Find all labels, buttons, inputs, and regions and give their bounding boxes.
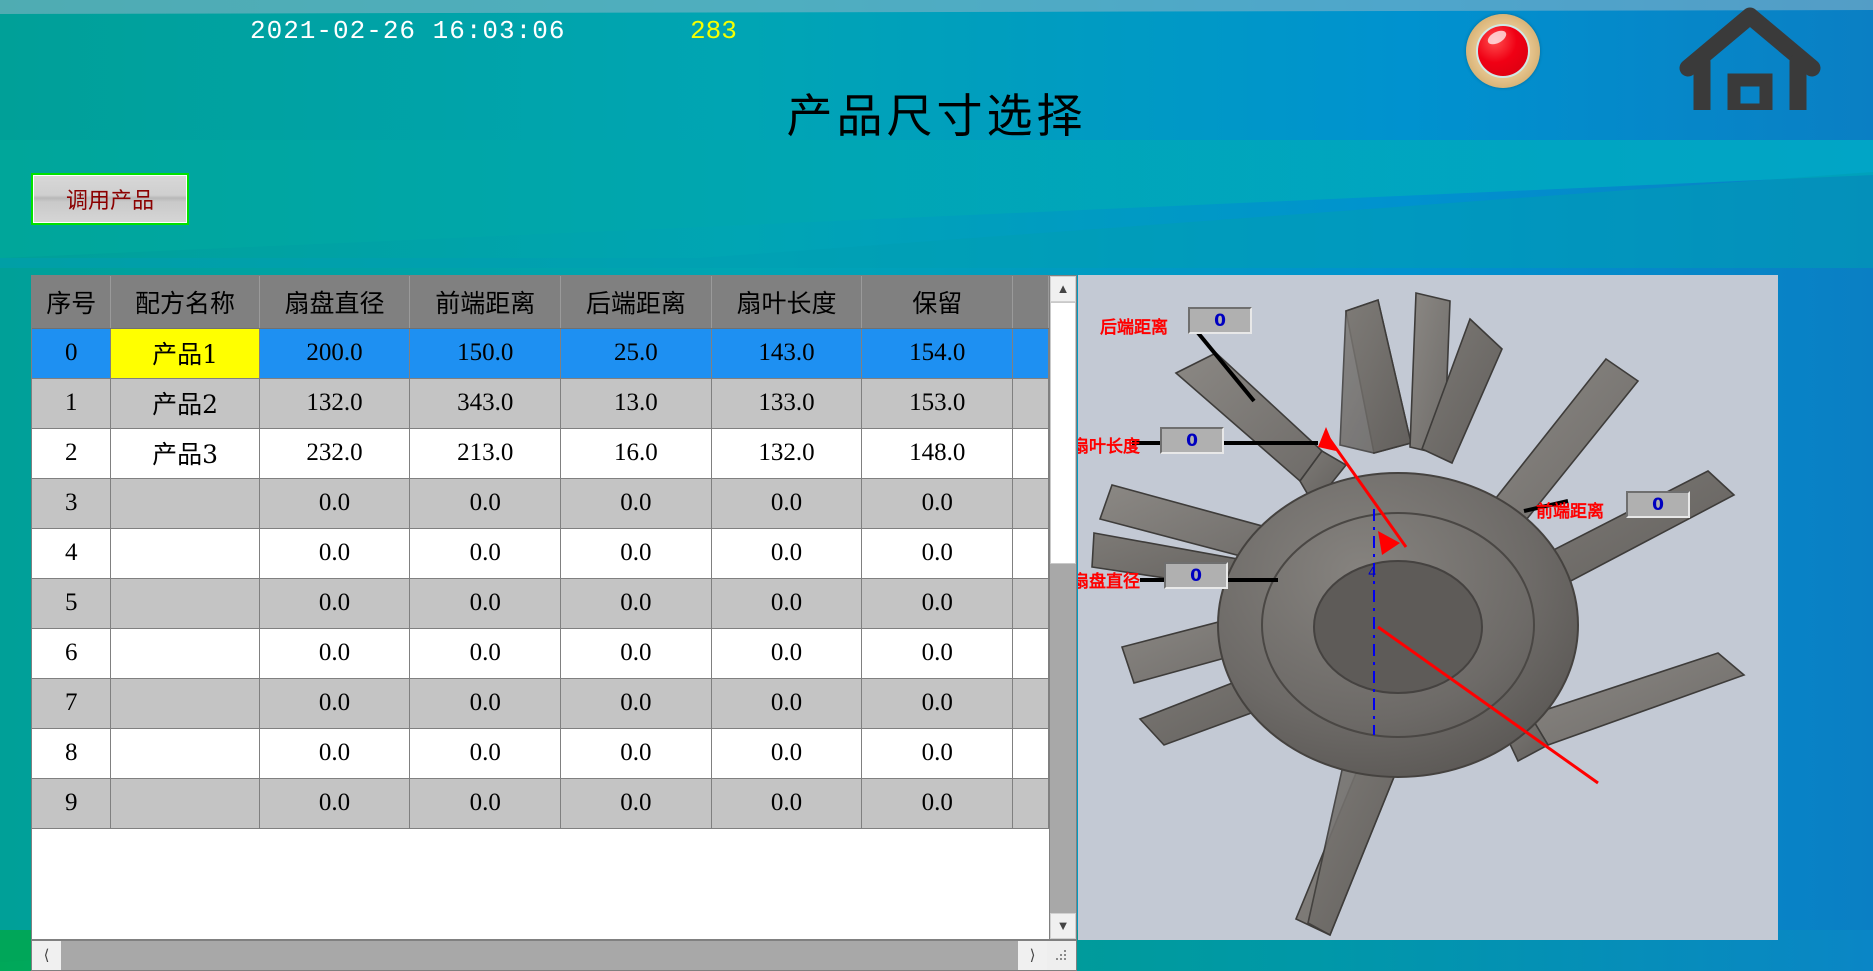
table-row[interactable]: 30.00.00.00.00.0 — [32, 478, 1049, 528]
column-header-name[interactable]: 配方名称 — [111, 276, 259, 328]
cell-index[interactable]: 2 — [32, 428, 111, 478]
cell-reserved[interactable]: 0.0 — [862, 578, 1013, 628]
callout-value-front-dist[interactable]: 0 — [1626, 491, 1690, 518]
table-row[interactable]: 60.00.00.00.00.0 — [32, 628, 1049, 678]
table-row[interactable]: 2产品3232.0213.016.0132.0148.0 — [32, 428, 1049, 478]
cell-spacer — [1013, 378, 1049, 428]
cell-rear-dist[interactable]: 0.0 — [561, 678, 712, 728]
callout-label-rear-dist: 后端距离 — [1100, 313, 1168, 338]
cell-reserved[interactable]: 148.0 — [862, 428, 1013, 478]
cell-front-dist[interactable]: 150.0 — [410, 328, 561, 378]
callout-value-disc-dia[interactable]: 0 — [1164, 562, 1228, 589]
alarm-lamp-inner — [1476, 24, 1530, 78]
callout-value-blade-len[interactable]: 0 — [1160, 427, 1224, 454]
cell-blade-len[interactable]: 132.0 — [711, 428, 862, 478]
cell-disc-dia[interactable]: 0.0 — [259, 478, 410, 528]
product-table: 序号 配方名称 扇盘直径 前端距离 后端距离 扇叶长度 保留 0产品1200.0… — [31, 275, 1077, 940]
cell-rear-dist[interactable]: 25.0 — [561, 328, 712, 378]
cell-index[interactable]: 7 — [32, 678, 111, 728]
cell-spacer — [1013, 728, 1049, 778]
table-row[interactable]: 80.00.00.00.00.0 — [32, 728, 1049, 778]
cell-name[interactable] — [111, 578, 259, 628]
vertical-scrollbar[interactable]: ▲ ▼ — [1049, 276, 1076, 939]
cell-rear-dist[interactable]: 0.0 — [561, 478, 712, 528]
cell-reserved[interactable]: 0.0 — [862, 628, 1013, 678]
scroll-up-button[interactable]: ▲ — [1050, 276, 1076, 302]
column-header-front-dist[interactable]: 前端距离 — [410, 276, 561, 328]
cell-reserved[interactable]: 0.0 — [862, 528, 1013, 578]
column-header-reserved[interactable]: 保留 — [862, 276, 1013, 328]
cell-disc-dia[interactable]: 0.0 — [259, 678, 410, 728]
callout-label-blade-len: 扇叶长度 — [1078, 432, 1140, 457]
cell-disc-dia[interactable]: 232.0 — [259, 428, 410, 478]
cell-name[interactable] — [111, 678, 259, 728]
cell-rear-dist[interactable]: 0.0 — [561, 628, 712, 678]
alarm-lamp-icon[interactable] — [1466, 14, 1540, 88]
cell-disc-dia[interactable]: 0.0 — [259, 578, 410, 628]
cell-name[interactable] — [111, 728, 259, 778]
cell-blade-len[interactable]: 0.0 — [711, 728, 862, 778]
cell-index[interactable]: 6 — [32, 628, 111, 678]
vertical-scroll-track[interactable] — [1050, 564, 1076, 913]
table-body: 0产品1200.0150.025.0143.0154.01产品2132.0343… — [32, 328, 1049, 828]
cell-front-dist[interactable]: 213.0 — [410, 428, 561, 478]
cell-index[interactable]: 3 — [32, 478, 111, 528]
vertical-scroll-thumb[interactable] — [1050, 302, 1076, 564]
cell-name[interactable] — [111, 528, 259, 578]
table-scroll-viewport: 序号 配方名称 扇盘直径 前端距离 后端距离 扇叶长度 保留 0产品1200.0… — [32, 276, 1049, 939]
cell-blade-len[interactable]: 133.0 — [711, 378, 862, 428]
cell-index[interactable]: 5 — [32, 578, 111, 628]
top-bar: 2021-02-26 16:03:06 283 产品尺寸选择 — [0, 0, 1873, 170]
column-header-rear-dist[interactable]: 后端距离 — [561, 276, 712, 328]
cell-rear-dist[interactable]: 0.0 — [561, 728, 712, 778]
cell-blade-len[interactable]: 143.0 — [711, 328, 862, 378]
cell-reserved[interactable]: 0.0 — [862, 678, 1013, 728]
cell-front-dist[interactable]: 0.0 — [410, 778, 561, 828]
fan-diagram-panel: 4 后端距离 0 扇叶长度 0 前端距离 0 扇盘直径 0 — [1078, 275, 1778, 940]
table-row[interactable]: 70.00.00.00.00.0 — [32, 678, 1049, 728]
cell-spacer — [1013, 628, 1049, 678]
cell-disc-dia[interactable]: 0.0 — [259, 778, 410, 828]
column-header-index[interactable]: 序号 — [32, 276, 111, 328]
cell-disc-dia[interactable]: 200.0 — [259, 328, 410, 378]
cell-front-dist[interactable]: 0.0 — [410, 528, 561, 578]
scroll-left-button[interactable]: ⟨ — [32, 941, 61, 970]
cell-rear-dist[interactable]: 0.0 — [561, 528, 712, 578]
cell-name[interactable] — [111, 628, 259, 678]
cell-front-dist[interactable]: 0.0 — [410, 678, 561, 728]
cell-name[interactable]: 产品1 — [111, 328, 259, 378]
cell-blade-len[interactable]: 0.0 — [711, 778, 862, 828]
cell-front-dist[interactable]: 0.0 — [410, 478, 561, 528]
fan-impeller-illustration: 4 — [1078, 275, 1778, 940]
cell-index[interactable]: 4 — [32, 528, 111, 578]
table-row[interactable]: 1产品2132.0343.013.0133.0153.0 — [32, 378, 1049, 428]
cell-reserved[interactable]: 0.0 — [862, 728, 1013, 778]
cell-front-dist[interactable]: 343.0 — [410, 378, 561, 428]
column-header-spacer — [1013, 276, 1049, 328]
cell-disc-dia[interactable]: 0.0 — [259, 728, 410, 778]
scroll-down-button[interactable]: ▼ — [1050, 913, 1076, 939]
table-row[interactable]: 50.00.00.00.00.0 — [32, 578, 1049, 628]
cell-name[interactable]: 产品3 — [111, 428, 259, 478]
cell-blade-len[interactable]: 0.0 — [711, 628, 862, 678]
svg-text:4: 4 — [1368, 566, 1376, 581]
cell-index[interactable]: 0 — [32, 328, 111, 378]
cell-reserved[interactable]: 0.0 — [862, 478, 1013, 528]
cell-name[interactable]: 产品2 — [111, 378, 259, 428]
cell-spacer — [1013, 678, 1049, 728]
grip-dots-icon — [1056, 950, 1068, 962]
cell-blade-len[interactable]: 0.0 — [711, 678, 862, 728]
cell-index[interactable]: 9 — [32, 778, 111, 828]
cell-spacer — [1013, 528, 1049, 578]
callout-label-disc-dia: 扇盘直径 — [1078, 567, 1140, 592]
column-header-disc-dia[interactable]: 扇盘直径 — [259, 276, 410, 328]
cell-rear-dist[interactable]: 0.0 — [561, 578, 712, 628]
cell-front-dist[interactable]: 0.0 — [410, 728, 561, 778]
column-header-blade-len[interactable]: 扇叶长度 — [711, 276, 862, 328]
cell-index[interactable]: 8 — [32, 728, 111, 778]
table-row[interactable]: 90.00.00.00.00.0 — [32, 778, 1049, 828]
cell-rear-dist[interactable]: 0.0 — [561, 778, 712, 828]
cell-disc-dia[interactable]: 0.0 — [259, 528, 410, 578]
counter-display: 283 — [690, 16, 737, 46]
cell-spacer — [1013, 578, 1049, 628]
cell-front-dist[interactable]: 0.0 — [410, 578, 561, 628]
home-button[interactable] — [1676, 6, 1824, 110]
home-icon — [1676, 6, 1824, 110]
table-header-row: 序号 配方名称 扇盘直径 前端距离 后端距离 扇叶长度 保留 — [32, 276, 1049, 328]
cell-spacer — [1013, 328, 1049, 378]
recall-product-button[interactable]: 调用产品 — [31, 173, 189, 225]
cell-blade-len[interactable]: 0.0 — [711, 478, 862, 528]
cell-index[interactable]: 1 — [32, 378, 111, 428]
datetime-display: 2021-02-26 16:03:06 — [250, 16, 565, 46]
cell-rear-dist[interactable]: 16.0 — [561, 428, 712, 478]
cell-name[interactable] — [111, 778, 259, 828]
cell-disc-dia[interactable]: 0.0 — [259, 628, 410, 678]
cell-blade-len[interactable]: 0.0 — [711, 528, 862, 578]
cell-front-dist[interactable]: 0.0 — [410, 628, 561, 678]
cell-rear-dist[interactable]: 13.0 — [561, 378, 712, 428]
cell-spacer — [1013, 428, 1049, 478]
cell-reserved[interactable]: 154.0 — [862, 328, 1013, 378]
page-title: 产品尺寸选择 — [0, 80, 1873, 146]
cell-spacer — [1013, 478, 1049, 528]
cell-disc-dia[interactable]: 132.0 — [259, 378, 410, 428]
table-row[interactable]: 0产品1200.0150.025.0143.0154.0 — [32, 328, 1049, 378]
horizontal-scroll-thumb[interactable] — [61, 941, 1018, 970]
cell-reserved[interactable]: 153.0 — [862, 378, 1013, 428]
scroll-right-button[interactable]: ⟩ — [1018, 941, 1047, 970]
cell-reserved[interactable]: 0.0 — [862, 778, 1013, 828]
cell-blade-len[interactable]: 0.0 — [711, 578, 862, 628]
cell-spacer — [1013, 778, 1049, 828]
callout-value-rear-dist[interactable]: 0 — [1188, 307, 1252, 334]
resize-grip-icon[interactable] — [1047, 941, 1076, 970]
horizontal-scrollbar[interactable]: ⟨ ⟩ — [31, 940, 1077, 971]
cell-name[interactable] — [111, 478, 259, 528]
table-row[interactable]: 40.00.00.00.00.0 — [32, 528, 1049, 578]
callout-label-front-dist: 前端距离 — [1536, 497, 1604, 522]
